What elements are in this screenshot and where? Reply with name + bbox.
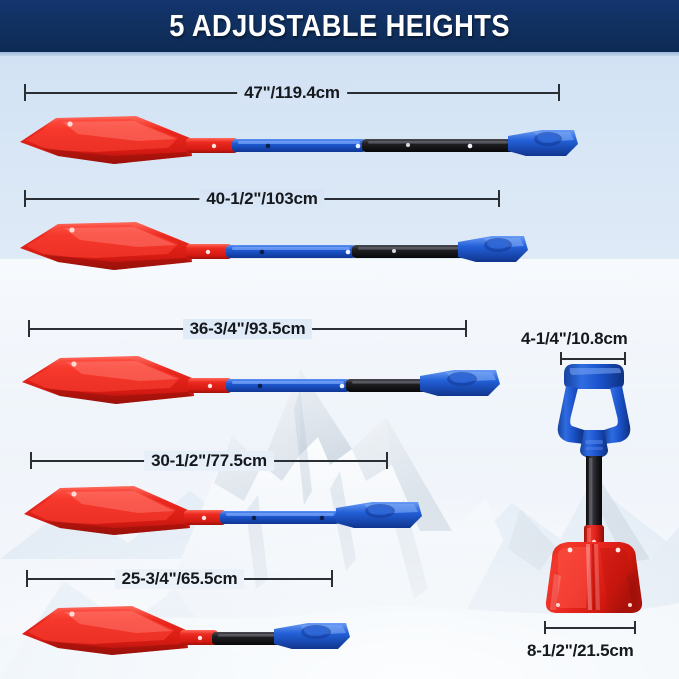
shovel-black-shaft [362, 139, 514, 152]
dimension-line-length-3: 36-3/4"/93.5cm [28, 328, 467, 329]
dimension-tick-left [28, 320, 30, 337]
shovel-length-4 [22, 472, 422, 536]
shovel-d-handle [458, 236, 528, 262]
dimension-label-length-1: 47"/119.4cm [237, 83, 347, 103]
dimension-tick-left [24, 84, 26, 101]
dimension-tick-right [558, 84, 560, 101]
shovel-blade [22, 356, 194, 404]
infographic-canvas: 5 ADJUSTABLE HEIGHTS 47"/119.4cm [0, 0, 679, 679]
upright-shovel [528, 362, 660, 620]
dimension-tick-right [386, 452, 388, 469]
banner-underline [0, 52, 679, 56]
dimension-line-length-1: 47"/119.4cm [24, 92, 560, 93]
page-title: 5 ADJUSTABLE HEIGHTS [169, 8, 510, 44]
shovel-length-5 [20, 590, 350, 656]
dimension-tick-right [331, 570, 333, 587]
dimension-line-blade-width [544, 627, 636, 628]
upright-handle-width-label: 4-1/4"/10.8cm [521, 329, 628, 349]
dimension-tick-left [26, 570, 28, 587]
upright-scoop-blade [546, 542, 642, 613]
shovel-d-handle [508, 130, 578, 156]
shovel-black-shaft [346, 379, 428, 392]
shovel-length-2 [18, 212, 528, 272]
dimension-tick-right [465, 320, 467, 337]
shovel-blue-shaft [232, 139, 366, 152]
shovel-black-shaft [212, 632, 284, 645]
shovel-d-handle [420, 370, 500, 396]
shovel-d-handle [336, 502, 422, 528]
dimension-tick-right [634, 621, 636, 634]
dimension-label-length-5: 25-3/4"/65.5cm [115, 569, 245, 589]
shovel-blade [22, 606, 188, 655]
shovel-blade [24, 486, 190, 535]
dimension-bar [560, 358, 626, 360]
upright-black-shaft [586, 456, 602, 528]
dimension-tick-left [24, 190, 26, 207]
shovel-length-3 [20, 344, 500, 404]
dimension-tick-left [544, 621, 546, 634]
shovel-blue-shaft [226, 245, 356, 258]
dimension-bar [544, 627, 636, 629]
shovel-blade [20, 116, 192, 164]
dimension-line-length-5: 25-3/4"/65.5cm [26, 578, 333, 579]
dimension-tick-right [498, 190, 500, 207]
header-banner: 5 ADJUSTABLE HEIGHTS [0, 0, 679, 52]
shovel-blue-shaft [226, 379, 350, 392]
dimension-label-length-3: 36-3/4"/93.5cm [183, 319, 313, 339]
dimension-label-length-4: 30-1/2"/77.5cm [144, 451, 274, 471]
shovel-black-shaft [352, 245, 468, 258]
dimension-line-length-4: 30-1/2"/77.5cm [30, 460, 388, 461]
shovel-blade [20, 222, 192, 270]
dimension-line-length-2: 40-1/2"/103cm [24, 198, 500, 199]
upright-blade-width-label: 8-1/2"/21.5cm [527, 641, 634, 661]
d-grip-handle [558, 364, 631, 458]
dimension-tick-left [30, 452, 32, 469]
shovel-d-handle [274, 623, 350, 649]
shovel-length-1 [18, 108, 578, 168]
dimension-label-length-2: 40-1/2"/103cm [199, 189, 324, 209]
dimension-line-handle-width [560, 358, 626, 359]
